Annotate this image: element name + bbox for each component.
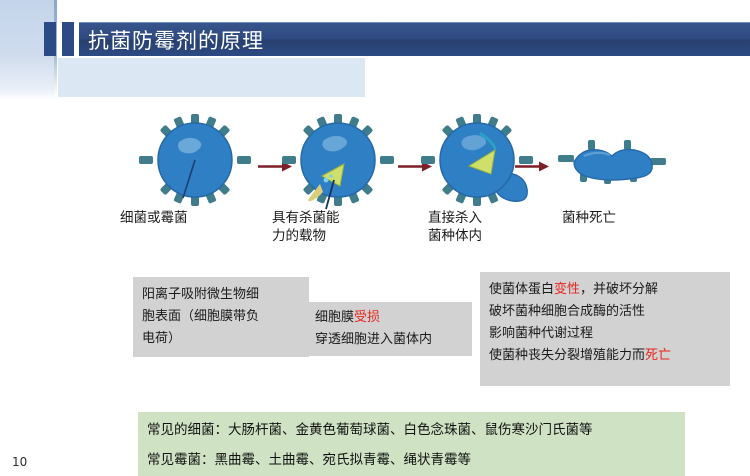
stage-3-label-line1: 直接杀入 bbox=[428, 210, 482, 227]
box-c-line-4-highlight: 死亡 bbox=[645, 348, 671, 363]
box-a-line-1: 阳离子吸附微生物细 bbox=[142, 284, 301, 306]
title-bar: 抗菌防霉剂的原理 bbox=[79, 22, 750, 56]
stage-2-label-line1: 具有杀菌能 bbox=[272, 210, 340, 227]
box-c-line-3: 影响菌种代谢过程 bbox=[489, 323, 722, 345]
box-a-line-2: 胞表面（细胞膜带负 bbox=[142, 306, 301, 328]
mechanism-diagram: 细菌或霉菌 具有杀菌能 力的载物 直接杀入 菌种体内 菌种死亡 bbox=[0, 100, 750, 260]
title-underlay-band bbox=[58, 58, 365, 97]
stage-1-label: 细菌或霉菌 bbox=[120, 210, 188, 227]
page-title: 抗菌防霉剂的原理 bbox=[79, 25, 264, 55]
box-c-line-4: 使菌种丧失分裂增殖能力而死亡 bbox=[489, 345, 722, 367]
common-bacteria-line: 常见的细菌：大肠杆菌、金黄色葡萄球菌、白色念珠菌、鼠伤寒沙门氏菌等 bbox=[147, 415, 685, 445]
explanation-box-membrane-damage: 细胞膜受损 穿透细胞进入菌体内 bbox=[306, 302, 472, 356]
box-a-line-3: 电荷） bbox=[142, 328, 301, 350]
box-b-line-1-prefix: 细胞膜 bbox=[315, 310, 354, 325]
stage-2-label-line2: 力的载物 bbox=[272, 228, 326, 245]
box-b-line-2: 穿透细胞进入菌体内 bbox=[315, 329, 464, 351]
box-c-line-1: 使菌体蛋白变性，并破坏分解 bbox=[489, 279, 722, 301]
title-tick-mark-1 bbox=[44, 22, 56, 56]
box-c-line-1-prefix: 使菌体蛋白 bbox=[489, 282, 554, 297]
explanation-box-adsorption: 阳离子吸附微生物细 胞表面（细胞膜带负 电荷） bbox=[133, 277, 309, 357]
box-c-line-2: 破坏菌种细胞合成酶的活性 bbox=[489, 301, 722, 323]
slide-canvas: 抗菌防霉剂的原理 bbox=[0, 0, 750, 476]
stage-4-label: 菌种死亡 bbox=[562, 210, 616, 227]
title-tick-mark-2 bbox=[62, 22, 74, 56]
stage-1-bacterium-icon bbox=[139, 114, 251, 210]
arrow-3-icon bbox=[515, 157, 549, 168]
common-mold-line: 常见霉菌：黑曲霉、土曲霉、宛氏拟青霉、绳状青霉等 bbox=[147, 445, 685, 475]
box-c-line-1-highlight: 变性 bbox=[554, 282, 580, 297]
stage-4-bacterium-dead-icon bbox=[558, 138, 666, 190]
box-c-line-4-prefix: 使菌种丧失分裂增殖能力而 bbox=[489, 348, 645, 363]
common-species-box: 常见的细菌：大肠杆菌、金黄色葡萄球菌、白色念珠菌、鼠伤寒沙门氏菌等 常见霉菌：黑… bbox=[138, 412, 685, 476]
explanation-box-protein-denaturation: 使菌体蛋白变性，并破坏分解 破坏菌种细胞合成酶的活性 影响菌种代谢过程 使菌种丧… bbox=[480, 272, 730, 386]
stage-3-label-line2: 菌种体内 bbox=[428, 228, 482, 245]
page-number: 10 bbox=[12, 455, 27, 469]
stage-2-bacterium-pierced-icon bbox=[282, 114, 394, 218]
box-b-line-1-highlight: 受损 bbox=[354, 310, 380, 325]
box-b-line-1: 细胞膜受损 bbox=[315, 307, 464, 329]
box-c-line-1-suffix: ，并破坏分解 bbox=[580, 282, 658, 297]
